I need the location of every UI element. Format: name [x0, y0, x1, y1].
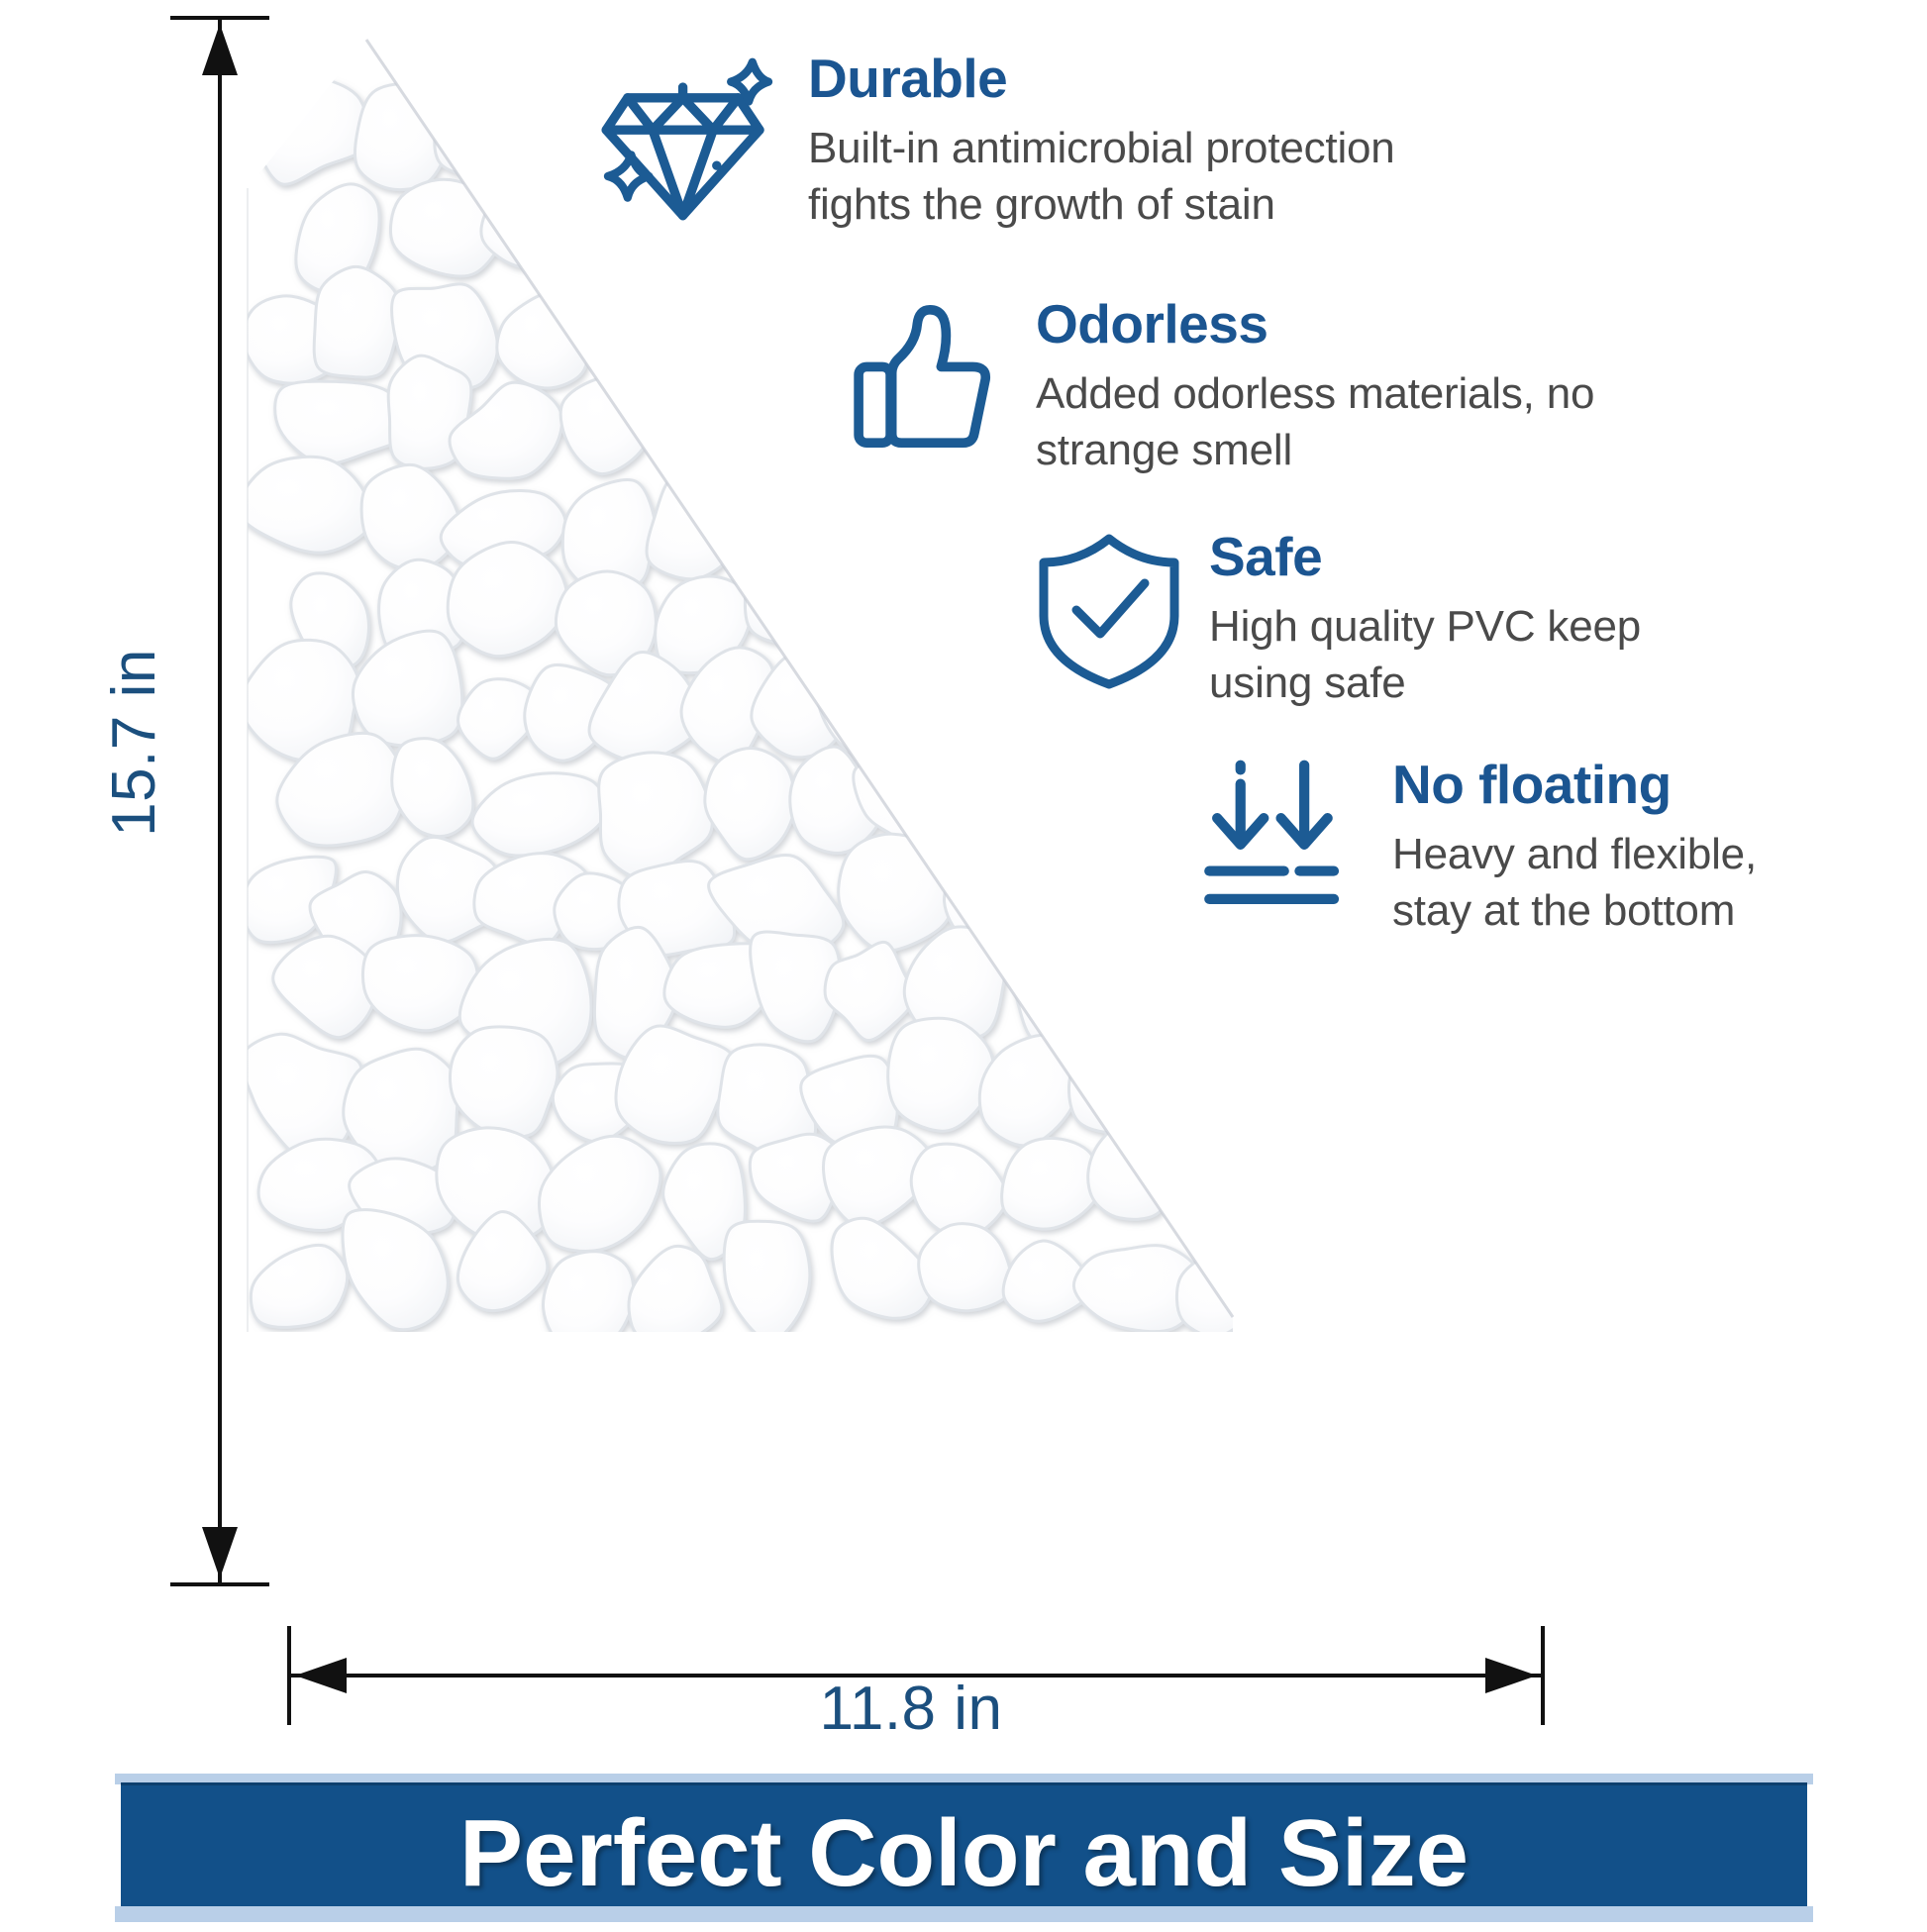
feature-durable-text: Durable Built-in antimicrobial protectio…	[808, 51, 1395, 233]
pebble	[724, 1221, 810, 1341]
feature-no-floating-desc: Heavy and flexible, stay at the bottom	[1392, 826, 1757, 939]
pebble	[1002, 1138, 1101, 1229]
pebble	[481, 184, 582, 267]
dimension-height-label: 15.7 in	[99, 594, 169, 891]
diamond-icon	[594, 51, 782, 230]
pebble	[450, 1027, 558, 1137]
desc-line-1: Heavy and flexible,	[1392, 830, 1757, 878]
feature-safe-title: Safe	[1209, 530, 1641, 584]
desc-line-2: using safe	[1209, 659, 1406, 707]
pebble	[392, 739, 473, 837]
dimension-width-label: 11.8 in	[634, 1674, 1188, 1744]
pebble	[643, 356, 745, 461]
pebble	[361, 464, 460, 568]
desc-line-2: fights the growth of stain	[808, 180, 1275, 229]
pebble	[314, 266, 399, 377]
down-arrows-icon	[1203, 758, 1367, 916]
feature-safe-text: Safe High quality PVC keep using safe	[1209, 530, 1641, 711]
thumbs-up-icon	[847, 297, 1010, 456]
feature-odorless: Odorless Added odorless materials, no st…	[847, 297, 1594, 478]
pebble	[705, 749, 795, 860]
pebble-field	[238, 72, 1353, 1351]
feature-durable: Durable Built-in antimicrobial protectio…	[594, 51, 1395, 233]
desc-line-1: High quality PVC keep	[1209, 602, 1641, 651]
feature-no-floating-text: No floating Heavy and flexible, stay at …	[1392, 758, 1757, 939]
pebble	[744, 445, 846, 559]
feature-no-floating: No floating Heavy and flexible, stay at …	[1203, 758, 1757, 939]
pebble	[979, 1035, 1079, 1146]
pebble	[472, 773, 606, 856]
pebble	[544, 1252, 634, 1351]
pebble	[745, 542, 828, 646]
product-image	[0, 0, 1927, 1927]
pebble	[616, 1026, 734, 1144]
desc-line-1: Added odorless materials, no	[1036, 369, 1594, 418]
banner-title: Perfect Color and Size	[459, 1806, 1469, 1901]
pebble	[1188, 1112, 1277, 1242]
pebble	[238, 457, 371, 553]
desc-line-1: Built-in antimicrobial protection	[808, 124, 1395, 172]
pebble	[888, 1018, 993, 1131]
feature-odorless-desc: Added odorless materials, no strange sme…	[1036, 365, 1594, 478]
pebble	[255, 72, 368, 185]
pebble	[251, 1245, 347, 1327]
feature-durable-desc: Built-in antimicrobial protection fights…	[808, 120, 1395, 233]
pebble	[647, 472, 750, 579]
pebble	[1012, 937, 1094, 1044]
pebble	[919, 1224, 1012, 1311]
feature-durable-title: Durable	[808, 51, 1395, 106]
desc-line-2: strange smell	[1036, 426, 1292, 474]
feature-odorless-text: Odorless Added odorless materials, no st…	[1036, 297, 1594, 478]
pebble	[540, 1136, 660, 1251]
feature-safe-desc: High quality PVC keep using safe	[1209, 598, 1641, 711]
pebble	[353, 631, 461, 746]
pebble-mat-illustration	[0, 0, 1927, 1927]
feature-odorless-title: Odorless	[1036, 297, 1594, 352]
pebble	[497, 293, 589, 388]
feature-safe: Safe High quality PVC keep using safe	[1035, 530, 1641, 711]
banner-band-bottom	[115, 1906, 1813, 1922]
pebble	[592, 277, 696, 383]
pebble	[839, 834, 953, 951]
pebble	[273, 936, 376, 1037]
pebble	[629, 1246, 722, 1343]
pebble	[1068, 1033, 1170, 1133]
pebble	[560, 373, 654, 473]
bottom-banner: Perfect Color and Size	[121, 1782, 1807, 1921]
pebble	[1244, 1242, 1354, 1329]
desc-line-2: stay at the bottom	[1392, 886, 1735, 935]
feature-no-floating-title: No floating	[1392, 758, 1757, 812]
shield-check-icon	[1035, 530, 1183, 693]
